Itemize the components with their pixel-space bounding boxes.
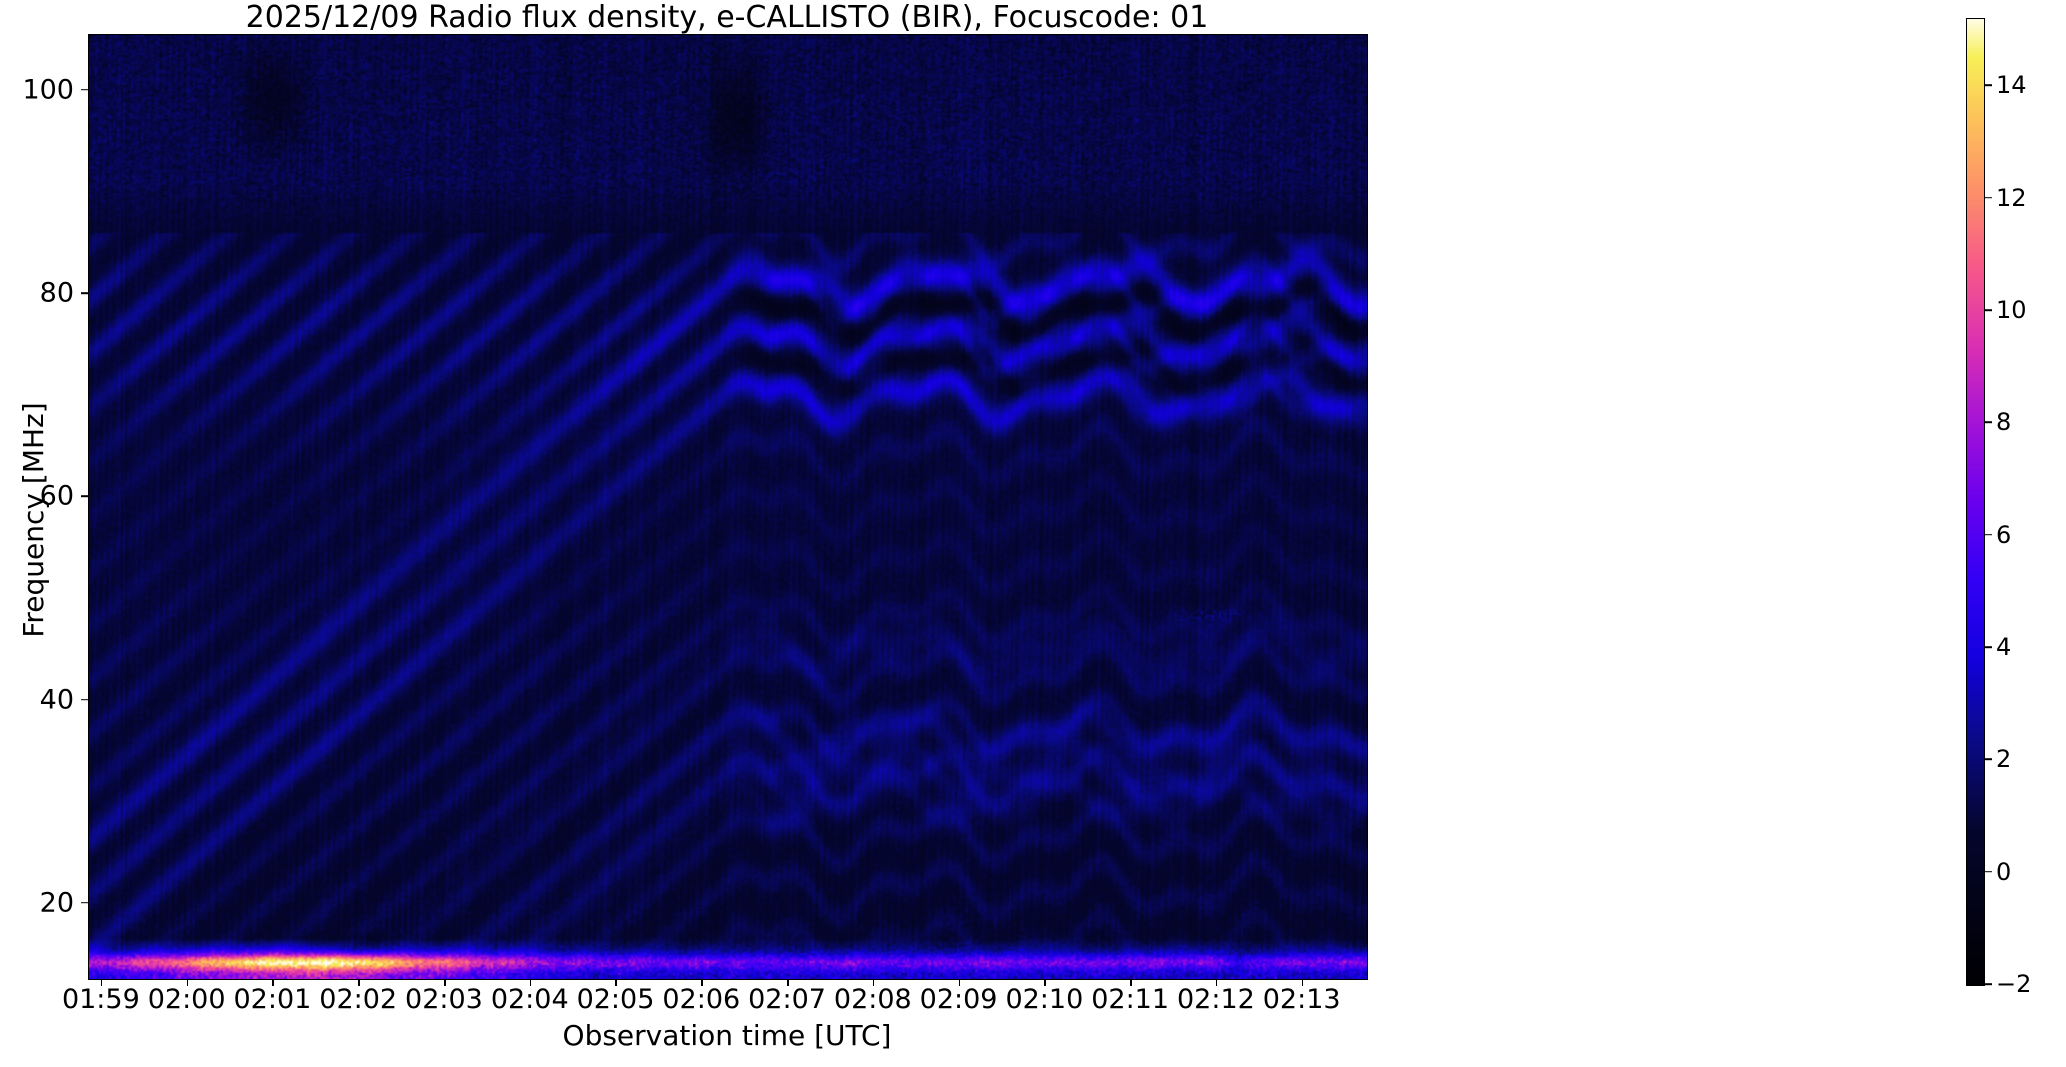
colorbar-tick (1985, 422, 1992, 424)
x-axis-tick-label: 02:09 (920, 986, 998, 1013)
colorbar-tick-label: 10 (1996, 298, 2027, 322)
x-axis-tick-label: 02:13 (1263, 986, 1341, 1013)
x-axis-tick-label: 02:05 (577, 986, 655, 1013)
colorbar-tick (1985, 85, 1992, 87)
colorbar-tick-label: 12 (1996, 186, 2027, 210)
x-axis-tick-label: 02:12 (1177, 986, 1255, 1013)
spectrogram-figure: 2025/12/09 Radio flux density, e-CALLIST… (0, 0, 2066, 1067)
x-axis: 01:5902:0002:0102:0202:0302:0402:0502:06… (0, 0, 2066, 1067)
colorbar-tick (1985, 983, 1992, 985)
colorbar-tick (1985, 871, 1992, 873)
x-axis-tick-label: 02:08 (834, 986, 912, 1013)
colorbar-tick-label: 6 (1996, 523, 2011, 547)
colorbar-tick (1985, 646, 1992, 648)
colorbar-tick (1985, 309, 1992, 311)
colorbar[interactable]: 14121086420−2 (1966, 18, 2066, 984)
colorbar-tick-label: −2 (1996, 972, 2031, 996)
colorbar-tick (1985, 759, 1992, 761)
x-axis-label: Observation time [UTC] (88, 1022, 1366, 1050)
colorbar-tick-label: 0 (1996, 860, 2011, 884)
x-axis-tick-label: 02:02 (319, 986, 397, 1013)
x-axis-tick-label: 02:07 (748, 986, 826, 1013)
colorbar-tick (1985, 534, 1992, 536)
colorbar-tick-label: 14 (1996, 73, 2027, 97)
colorbar-tick-label: 2 (1996, 747, 2011, 771)
x-axis-tick-label: 02:10 (1005, 986, 1083, 1013)
colorbar-tick-label: 4 (1996, 635, 2011, 659)
x-axis-tick-label: 02:01 (234, 986, 312, 1013)
x-axis-tick-label: 02:04 (491, 986, 569, 1013)
x-axis-tick-label: 02:00 (148, 986, 226, 1013)
x-axis-tick-label: 01:59 (62, 986, 140, 1013)
colorbar-tick-label: 8 (1996, 410, 2011, 434)
x-axis-tick-label: 02:06 (662, 986, 740, 1013)
colorbar-tick (1985, 197, 1992, 199)
x-axis-tick-label: 02:11 (1091, 986, 1169, 1013)
x-axis-tick-label: 02:03 (405, 986, 483, 1013)
colorbar-ticks: 14121086420−2 (1966, 18, 2066, 984)
